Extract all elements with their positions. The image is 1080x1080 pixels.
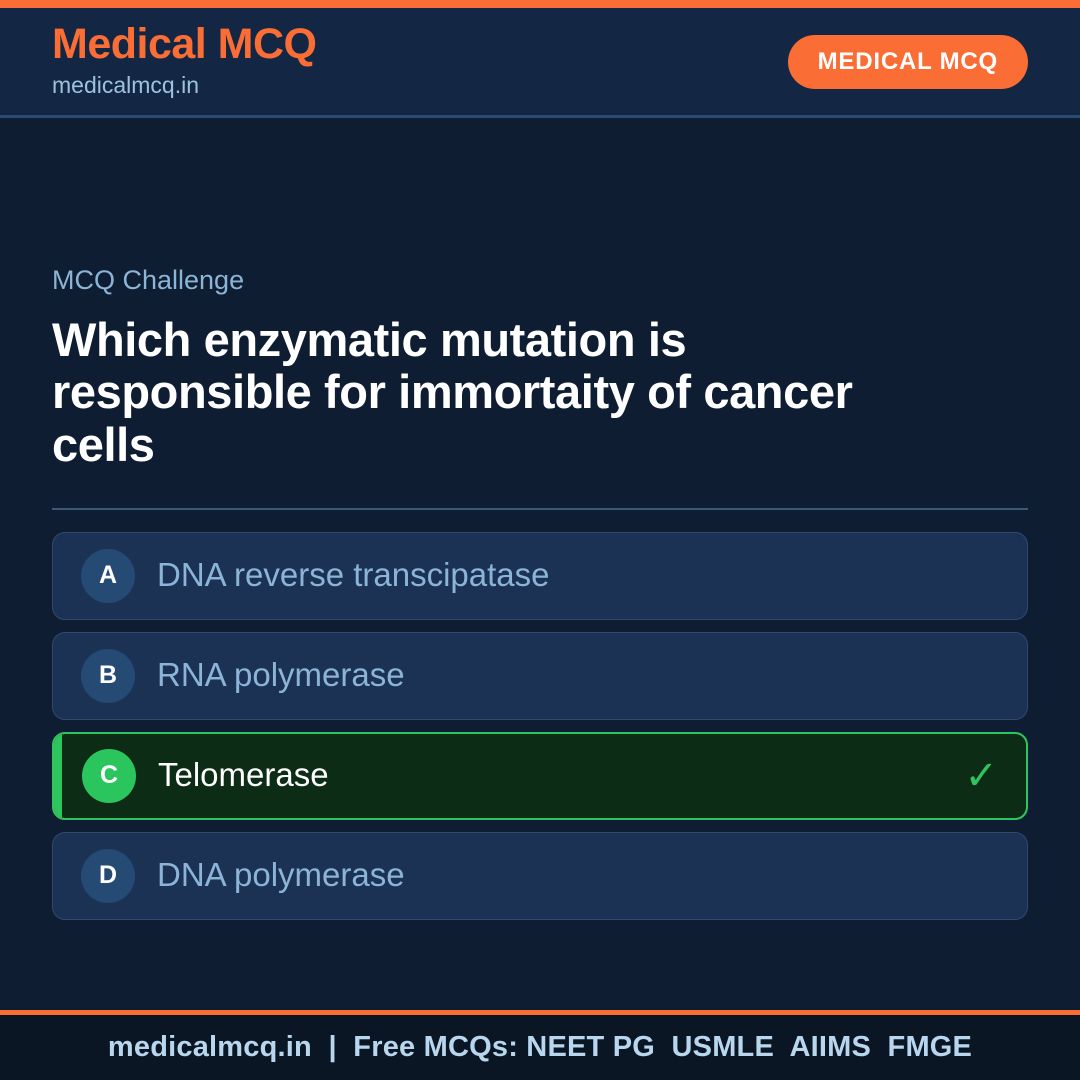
page-header: Medical MCQ medicalmcq.in MEDICAL MCQ bbox=[0, 8, 1080, 118]
option-letter-badge: D bbox=[81, 849, 135, 903]
options-list: A DNA reverse transcipatase ✓ B RNA poly… bbox=[52, 532, 1028, 920]
correct-accent-bar bbox=[54, 734, 62, 818]
option-b[interactable]: B RNA polymerase ✓ bbox=[52, 632, 1028, 720]
check-icon: ✓ bbox=[964, 756, 998, 796]
brand-subtitle: medicalmcq.in bbox=[52, 70, 317, 101]
option-letter-badge: C bbox=[82, 749, 136, 803]
option-text: RNA polymerase bbox=[157, 657, 999, 693]
option-text: DNA reverse transcipatase bbox=[157, 557, 999, 593]
brand-block: Medical MCQ medicalmcq.in bbox=[52, 22, 317, 100]
option-text: DNA polymerase bbox=[157, 857, 999, 893]
main-content: MCQ Challenge Which enzymatic mutation i… bbox=[0, 266, 1080, 920]
option-a[interactable]: A DNA reverse transcipatase ✓ bbox=[52, 532, 1028, 620]
option-letter-badge: B bbox=[81, 649, 135, 703]
footer-text: medicalmcq.in | Free MCQs: NEET PG USMLE… bbox=[108, 1031, 972, 1064]
option-text: Telomerase bbox=[158, 757, 948, 793]
option-c[interactable]: C Telomerase ✓ bbox=[52, 732, 1028, 820]
question-divider bbox=[52, 508, 1028, 510]
top-accent-bar bbox=[0, 0, 1080, 8]
brand-title: Medical MCQ bbox=[52, 22, 317, 67]
option-d[interactable]: D DNA polymerase ✓ bbox=[52, 832, 1028, 920]
question-text: Which enzymatic mutation is responsible … bbox=[52, 314, 952, 472]
header-badge: MEDICAL MCQ bbox=[788, 35, 1028, 89]
eyebrow-label: MCQ Challenge bbox=[52, 266, 1028, 296]
page-footer: medicalmcq.in | Free MCQs: NEET PG USMLE… bbox=[0, 1010, 1080, 1080]
option-letter-badge: A bbox=[81, 549, 135, 603]
